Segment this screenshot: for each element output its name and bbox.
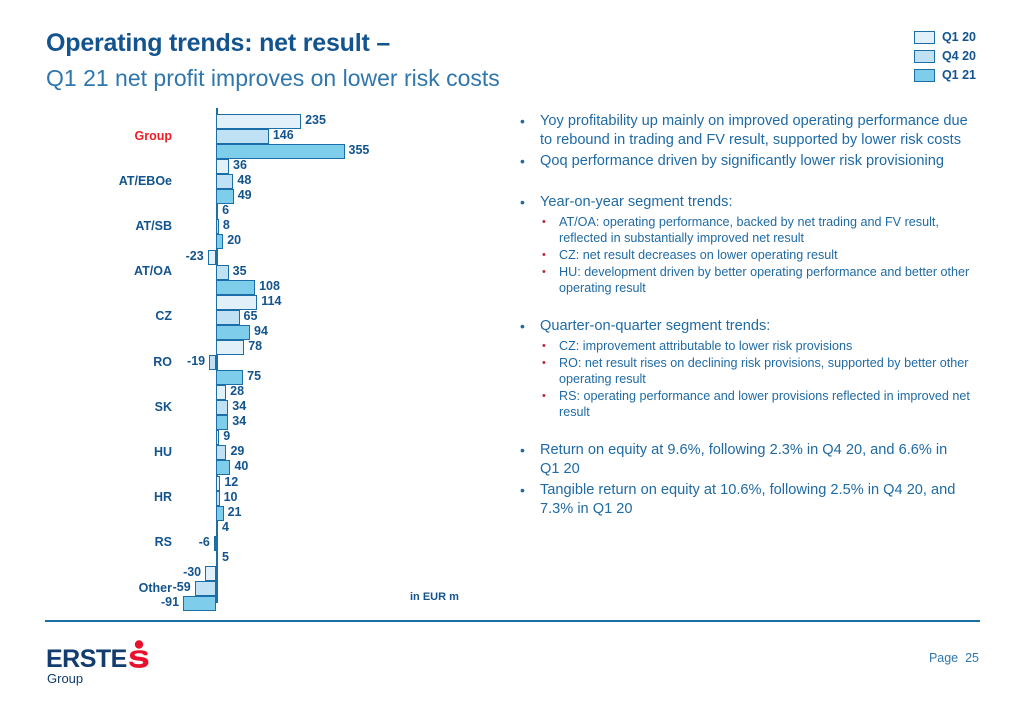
chart-bar-value: 65 bbox=[244, 309, 258, 324]
bullet-text: CZ: improvement attributable to lower ri… bbox=[559, 338, 970, 354]
chart-bar-row: 108 bbox=[40, 280, 500, 295]
commentary-sub-bullet: •CZ: improvement attributable to lower r… bbox=[542, 338, 970, 354]
chart-bar-hr-q1-21 bbox=[216, 506, 224, 521]
bullet-text: AT/OA: operating performance, backed by … bbox=[559, 214, 970, 246]
erste-savings-s-icon bbox=[127, 640, 151, 672]
chart-category-group: RS4-65 bbox=[40, 521, 500, 566]
chart-bar-row: 10 bbox=[40, 491, 500, 506]
chart-bar-value: -23 bbox=[186, 249, 204, 264]
chart-bar-value: 8 bbox=[223, 218, 230, 233]
bullet-text: RS: operating performance and lower prov… bbox=[559, 388, 970, 420]
chart-bar-cz-q4-20 bbox=[216, 310, 240, 325]
chart-bar-value: 49 bbox=[238, 188, 252, 203]
chart-bar-value: 78 bbox=[248, 339, 262, 354]
bullet-marker-icon: • bbox=[520, 317, 540, 336]
chart-bar-value: 4 bbox=[222, 520, 229, 535]
chart-bar-value: 36 bbox=[233, 158, 247, 173]
net-result-bar-chart: Group235146355AT/EBOe364849AT/SB6820AT/O… bbox=[40, 104, 500, 609]
commentary-sub-bullet: •RS: operating performance and lower pro… bbox=[542, 388, 970, 420]
chart-bar-value: -59 bbox=[173, 580, 191, 595]
page-number-label: Page bbox=[929, 651, 958, 665]
chart-bar-value: 21 bbox=[228, 505, 242, 520]
chart-bar-value: 235 bbox=[305, 113, 326, 128]
bullet-marker-icon: • bbox=[542, 355, 559, 387]
chart-bar-row: 35 bbox=[40, 265, 500, 280]
chart-bar-row: 49 bbox=[40, 189, 500, 204]
chart-bar-row: 355 bbox=[40, 144, 500, 159]
page-title-line1: Operating trends: net result – bbox=[46, 28, 606, 58]
bullet-text: CZ: net result decreases on lower operat… bbox=[559, 247, 970, 263]
legend-swatch-icon bbox=[914, 50, 935, 63]
chart-bar-at-sb-q4-20 bbox=[216, 219, 219, 234]
chart-bar-row: 8 bbox=[40, 219, 500, 234]
commentary-block-returns: •Return on equity at 9.6%, following 2.3… bbox=[520, 441, 970, 519]
chart-bar-row: 75 bbox=[40, 370, 500, 385]
bullet-marker-icon: • bbox=[520, 112, 540, 150]
chart-bar-value: 29 bbox=[230, 444, 244, 459]
chart-bar-row: -23 bbox=[40, 250, 500, 265]
chart-bar-row: 94 bbox=[40, 325, 500, 340]
chart-category-group: Other-30-59-91 bbox=[40, 566, 500, 611]
chart-bar-at-oa-q1-21 bbox=[216, 280, 255, 295]
chart-bar-hr-q1-20 bbox=[216, 476, 220, 491]
chart-bar-row: 12 bbox=[40, 476, 500, 491]
chart-bar-ro-q1-20 bbox=[216, 340, 244, 355]
commentary-spacer bbox=[520, 421, 970, 441]
chart-bar-value: 94 bbox=[254, 324, 268, 339]
chart-bar-value: -91 bbox=[161, 595, 179, 610]
commentary-block-quarter-on-quarter: •Quarter-on-quarter segment trends:•CZ: … bbox=[520, 317, 970, 420]
chart-bar-value: 28 bbox=[230, 384, 244, 399]
chart-bar-hu-q1-20 bbox=[216, 430, 219, 445]
chart-bar-other-q1-20 bbox=[205, 566, 216, 581]
chart-bar-value: 35 bbox=[233, 264, 247, 279]
chart-bar-at-eboe-q4-20 bbox=[216, 174, 233, 189]
chart-bar-row: 4 bbox=[40, 521, 500, 536]
bullet-marker-icon: • bbox=[542, 247, 559, 263]
bullet-text: Year-on-year segment trends: bbox=[540, 193, 970, 212]
chart-bar-row: 65 bbox=[40, 310, 500, 325]
chart-bar-value: -19 bbox=[187, 354, 205, 369]
chart-bar-value: 40 bbox=[234, 459, 248, 474]
chart-bar-at-oa-q4-20 bbox=[216, 265, 229, 280]
chart-bar-value: 20 bbox=[227, 233, 241, 248]
legend-label: Q4 20 bbox=[942, 49, 976, 63]
page-number: Page 25 bbox=[929, 651, 979, 665]
chart-bar-value: 75 bbox=[247, 369, 261, 384]
chart-bar-value: 6 bbox=[222, 203, 229, 218]
page-title-line2: Q1 21 net profit improves on lower risk … bbox=[46, 63, 606, 93]
chart-bar-row: 29 bbox=[40, 445, 500, 460]
commentary-sub-bullet: •HU: development driven by better operat… bbox=[542, 264, 970, 296]
chart-bar-row: 146 bbox=[40, 129, 500, 144]
commentary-block-summary: •Yoy profitability up mainly on improved… bbox=[520, 112, 970, 171]
chart-bar-value: -30 bbox=[183, 565, 201, 580]
commentary-bullet: •Year-on-year segment trends: bbox=[520, 193, 970, 212]
chart-bar-value: 5 bbox=[222, 550, 229, 565]
bullet-marker-icon: • bbox=[520, 152, 540, 171]
chart-bar-value: 10 bbox=[224, 490, 238, 505]
commentary-spacer bbox=[520, 173, 970, 193]
chart-bar-row: 6 bbox=[40, 204, 500, 219]
commentary-bullet: •Quarter-on-quarter segment trends: bbox=[520, 317, 970, 336]
chart-bar-row: 36 bbox=[40, 159, 500, 174]
chart-category-group: CZ1146594 bbox=[40, 295, 500, 340]
chart-bar-row: -6 bbox=[40, 536, 500, 551]
chart-bar-value: 355 bbox=[349, 143, 370, 158]
commentary-bullet: •Qoq performance driven by significantly… bbox=[520, 152, 970, 171]
chart-bar-ro-q4-20 bbox=[209, 355, 216, 370]
chart-bar-hu-q1-21 bbox=[216, 460, 230, 475]
commentary-sub-bullet: •AT/OA: operating performance, backed by… bbox=[542, 214, 970, 246]
chart-category-group: SK283434 bbox=[40, 385, 500, 430]
commentary-spacer bbox=[520, 297, 970, 317]
chart-bar-at-sb-q1-21 bbox=[216, 234, 223, 249]
chart-bar-row: 34 bbox=[40, 400, 500, 415]
chart-category-group: HR121021 bbox=[40, 476, 500, 521]
chart-bar-hr-q4-20 bbox=[216, 491, 220, 506]
legend-item-q4-20: Q4 20 bbox=[914, 49, 976, 63]
legend-label: Q1 21 bbox=[942, 68, 976, 82]
logo-wordmark: ERSTE bbox=[46, 645, 127, 674]
chart-bar-row: -19 bbox=[40, 355, 500, 370]
bullet-text: Quarter-on-quarter segment trends: bbox=[540, 317, 970, 336]
legend-item-q1-20: Q1 20 bbox=[914, 30, 976, 44]
bullet-text: RO: net result rises on declining risk p… bbox=[559, 355, 970, 387]
bullet-marker-icon: • bbox=[542, 214, 559, 246]
legend-swatch-icon bbox=[914, 69, 935, 82]
logo-subtext: Group bbox=[47, 671, 83, 686]
chart-bar-ro-q1-21 bbox=[216, 370, 243, 385]
chart-bar-row: 78 bbox=[40, 340, 500, 355]
chart-bar-row: 5 bbox=[40, 551, 500, 566]
commentary-bullet: •Tangible return on equity at 10.6%, fol… bbox=[520, 481, 970, 519]
commentary-bullet: •Return on equity at 9.6%, following 2.3… bbox=[520, 441, 970, 479]
chart-bar-at-eboe-q1-21 bbox=[216, 189, 234, 204]
chart-bar-value: -6 bbox=[199, 535, 210, 550]
chart-bar-sk-q1-20 bbox=[216, 385, 226, 400]
bullet-marker-icon: • bbox=[520, 441, 540, 479]
chart-bar-row: -30 bbox=[40, 566, 500, 581]
commentary-sub-bullet: •CZ: net result decreases on lower opera… bbox=[542, 247, 970, 263]
chart-bar-row: 235 bbox=[40, 114, 500, 129]
bullet-marker-icon: • bbox=[520, 481, 540, 519]
chart-units-label: in EUR m bbox=[410, 591, 459, 603]
page-title: Operating trends: net result – Q1 21 net… bbox=[46, 28, 606, 93]
bullet-marker-icon: • bbox=[520, 193, 540, 212]
erste-group-logo: ERSTE Group bbox=[46, 640, 226, 686]
chart-bar-value: 114 bbox=[261, 294, 281, 309]
chart-category-group: AT/OA-2335108 bbox=[40, 250, 500, 295]
bullet-marker-icon: • bbox=[542, 338, 559, 354]
commentary-block-year-on-year: •Year-on-year segment trends:•AT/OA: ope… bbox=[520, 193, 970, 296]
chart-bar-value: 34 bbox=[232, 414, 246, 429]
page-number-value: 25 bbox=[965, 651, 979, 665]
chart-bar-rs-q4-20 bbox=[214, 536, 216, 551]
bullet-marker-icon: • bbox=[542, 264, 559, 296]
commentary-sub-bullet: •RO: net result rises on declining risk … bbox=[542, 355, 970, 387]
chart-bar-hu-q4-20 bbox=[216, 445, 226, 460]
chart-bar-row: 9 bbox=[40, 430, 500, 445]
chart-bar-at-sb-q1-20 bbox=[216, 204, 218, 219]
chart-bar-group-q4-20 bbox=[216, 129, 269, 144]
chart-legend: Q1 20Q4 20Q1 21 bbox=[914, 30, 976, 82]
chart-bar-row: 21 bbox=[40, 506, 500, 521]
commentary-bullet: •Yoy profitability up mainly on improved… bbox=[520, 112, 970, 150]
chart-bar-row: 40 bbox=[40, 460, 500, 475]
bullet-marker-icon: • bbox=[542, 388, 559, 420]
chart-category-group: HU92940 bbox=[40, 430, 500, 475]
chart-bar-value: 9 bbox=[223, 429, 230, 444]
chart-category-group: RO78-1975 bbox=[40, 340, 500, 385]
chart-bar-sk-q4-20 bbox=[216, 400, 228, 415]
chart-bar-value: 12 bbox=[224, 475, 238, 490]
chart-bar-row: 28 bbox=[40, 385, 500, 400]
chart-bar-value: 146 bbox=[273, 128, 294, 143]
chart-bar-value: 34 bbox=[232, 399, 246, 414]
legend-swatch-icon bbox=[914, 31, 935, 44]
chart-category-group: AT/SB6820 bbox=[40, 204, 500, 249]
legend-item-q1-21: Q1 21 bbox=[914, 68, 976, 82]
commentary-panel: •Yoy profitability up mainly on improved… bbox=[520, 112, 970, 521]
chart-bar-value: 108 bbox=[259, 279, 280, 294]
chart-bar-sk-q1-21 bbox=[216, 415, 228, 430]
chart-bar-cz-q1-20 bbox=[216, 295, 257, 310]
chart-bar-row: 114 bbox=[40, 295, 500, 310]
chart-bar-value: 48 bbox=[237, 173, 251, 188]
chart-category-group: Group235146355 bbox=[40, 114, 500, 159]
footer-divider bbox=[45, 620, 980, 622]
chart-bar-other-q4-20 bbox=[195, 581, 216, 596]
chart-bar-row: 20 bbox=[40, 234, 500, 249]
bullet-text: Yoy profitability up mainly on improved … bbox=[540, 112, 970, 150]
bullet-text: HU: development driven by better operati… bbox=[559, 264, 970, 296]
chart-bar-rs-q1-21 bbox=[216, 551, 218, 566]
chart-bar-at-oa-q1-20 bbox=[208, 250, 216, 265]
chart-bar-row: 34 bbox=[40, 415, 500, 430]
legend-label: Q1 20 bbox=[942, 30, 976, 44]
chart-bar-other-q1-21 bbox=[183, 596, 216, 611]
chart-category-group: AT/EBOe364849 bbox=[40, 159, 500, 204]
chart-bar-cz-q1-21 bbox=[216, 325, 250, 340]
chart-bar-group-q1-21 bbox=[216, 144, 345, 159]
bullet-text: Qoq performance driven by significantly … bbox=[540, 152, 970, 171]
chart-bar-rs-q1-20 bbox=[216, 521, 218, 536]
chart-bar-row: 48 bbox=[40, 174, 500, 189]
chart-bar-at-eboe-q1-20 bbox=[216, 159, 229, 174]
bullet-text: Return on equity at 9.6%, following 2.3%… bbox=[540, 441, 970, 479]
bullet-text: Tangible return on equity at 10.6%, foll… bbox=[540, 481, 970, 519]
chart-bar-group-q1-20 bbox=[216, 114, 301, 129]
